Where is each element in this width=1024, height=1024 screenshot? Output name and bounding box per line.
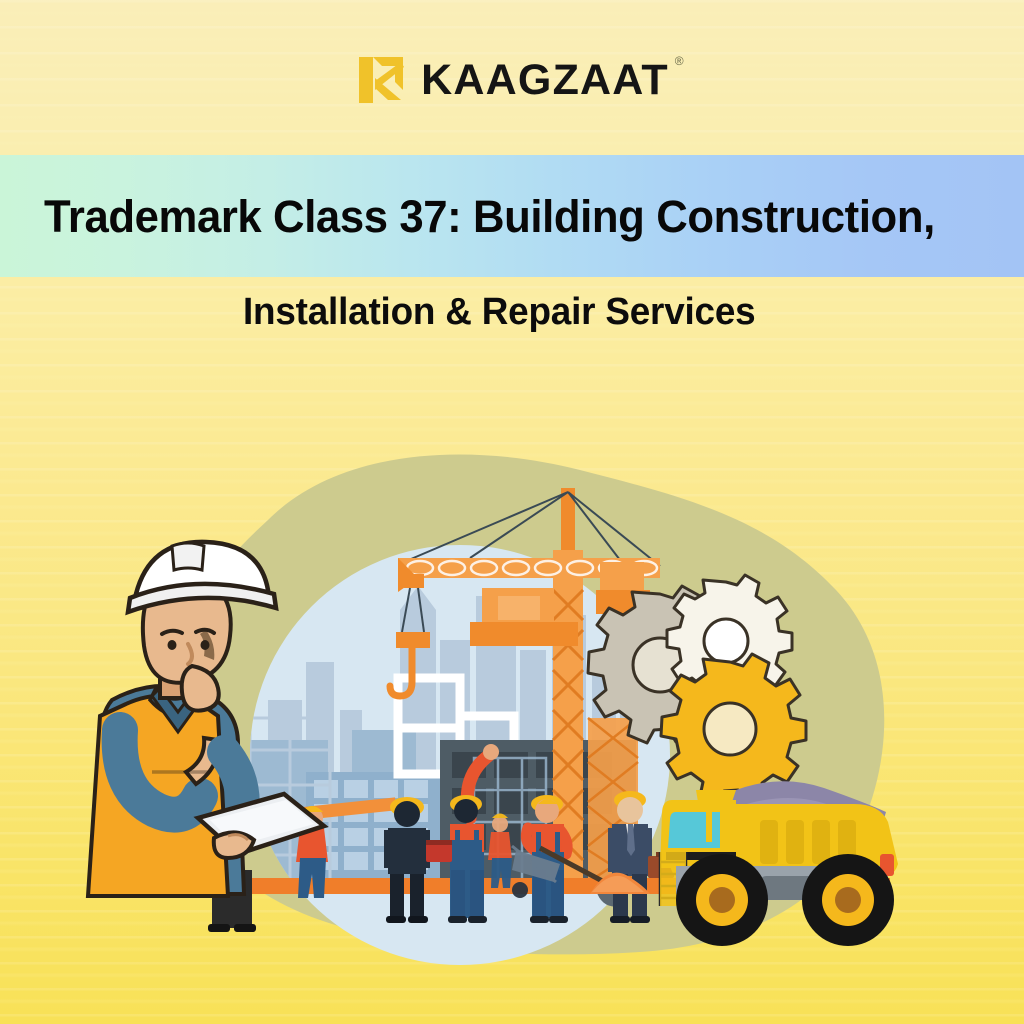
kaagzaat-k-mark-icon [355,54,407,106]
registered-trademark-icon: ® [675,55,685,67]
brand-wordmark-text: KAAGZAAT [421,56,669,104]
construction-scene-illustration [0,400,1024,1024]
brand-wordmark: KAAGZAAT ® [421,59,669,102]
headline-band: Trademark Class 37: Building Constructio… [0,155,1024,277]
headline-line-1: Trademark Class 37: Building Constructio… [44,194,935,239]
dump-truck [660,781,898,946]
brand-header: KAAGZAAT ® [0,46,1024,114]
headline-subline-row: Installation & Repair Services [0,282,1024,342]
poster-canvas: KAAGZAAT ® Trademark Class 37: Building … [0,0,1024,1024]
headline-line-2: Installation & Repair Services [243,293,755,331]
